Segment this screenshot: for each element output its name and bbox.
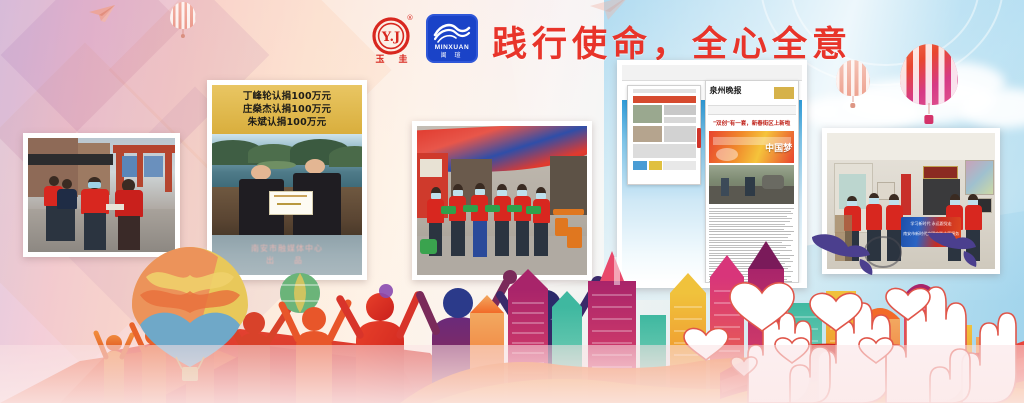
foreground-base-wash xyxy=(0,345,1024,403)
newspaper-masthead: 泉州晚报 xyxy=(709,85,741,96)
indoor-red-banner: 学习新时代 永远跟党走 南安市新时代文明实践志愿服务 xyxy=(901,217,961,247)
wave-lines-icon xyxy=(432,19,472,43)
newspaper-main-page[interactable]: 泉州晚报 "双创"有一套，新春街区上新啦 中国梦 xyxy=(705,80,799,283)
poster-footer: 南安市融媒体中心 出 品 xyxy=(212,235,362,275)
svg-text:玉: 玉 xyxy=(375,54,384,65)
photo-newspaper-epaper[interactable]: 泉州晚报 "双创"有一套，新春街区上新啦 中国梦 xyxy=(617,60,807,288)
poster-footer-line-2: 出 品 xyxy=(266,255,308,267)
donation-line-1: 丁峰轮认捐100万元 xyxy=(243,90,331,103)
svg-text:Y.J: Y.J xyxy=(381,30,400,45)
poster-footer-line-1: 南安市融媒体中心 xyxy=(251,243,323,255)
svg-text:®: ® xyxy=(407,14,414,22)
promo-banner: Y.J ® 玉 圭 MINXUAN 闽 瑄 践行使命，全心全意 xyxy=(0,0,1024,403)
newspaper-thumbnail-page[interactable] xyxy=(627,85,701,185)
newspaper-article-headline: "双创"有一套，新春街区上新啦 xyxy=(711,119,792,127)
photo-street-volunteers[interactable] xyxy=(23,133,180,257)
minxuan-logo[interactable]: MINXUAN 闽 瑄 xyxy=(426,14,478,63)
newspaper-article-photo xyxy=(709,165,793,203)
yj-logo[interactable]: Y.J ® 玉 圭 xyxy=(366,11,418,65)
svg-text:圭: 圭 xyxy=(398,53,407,65)
photo-volunteer-group[interactable] xyxy=(412,121,592,280)
donation-line-2: 庄燊杰认捐100万元 xyxy=(243,103,331,116)
indoor-banner-line-2: 南安市新时代文明实践志愿服务 xyxy=(901,227,961,237)
newspaper-ad-text: 中国梦 xyxy=(765,141,792,154)
banner-header: Y.J ® 玉 圭 MINXUAN 闽 瑄 践行使命，全心全意 xyxy=(0,0,1024,72)
minxuan-logo-cn: 闽 瑄 xyxy=(441,52,464,59)
photo-indoor-volunteers[interactable]: 学习新时代 永远跟党走 南安市新时代文明实践志愿服务 xyxy=(822,128,1000,274)
poster-donation-banner: 丁峰轮认捐100万元 庄燊杰认捐100万元 朱斌认捐100万元 xyxy=(212,85,362,134)
donation-line-3: 朱斌认捐100万元 xyxy=(248,116,327,129)
indoor-banner-line-1: 学习新时代 永远跟党走 xyxy=(901,217,961,227)
minxuan-logo-en: MINXUAN xyxy=(435,44,470,52)
newspaper-page-tab[interactable] xyxy=(697,128,702,148)
photo-donation-poster[interactable]: 丁峰轮认捐100万元 庄燊杰认捐100万元 朱斌认捐100万元 xyxy=(207,80,367,280)
newspaper-body-text xyxy=(709,208,793,278)
